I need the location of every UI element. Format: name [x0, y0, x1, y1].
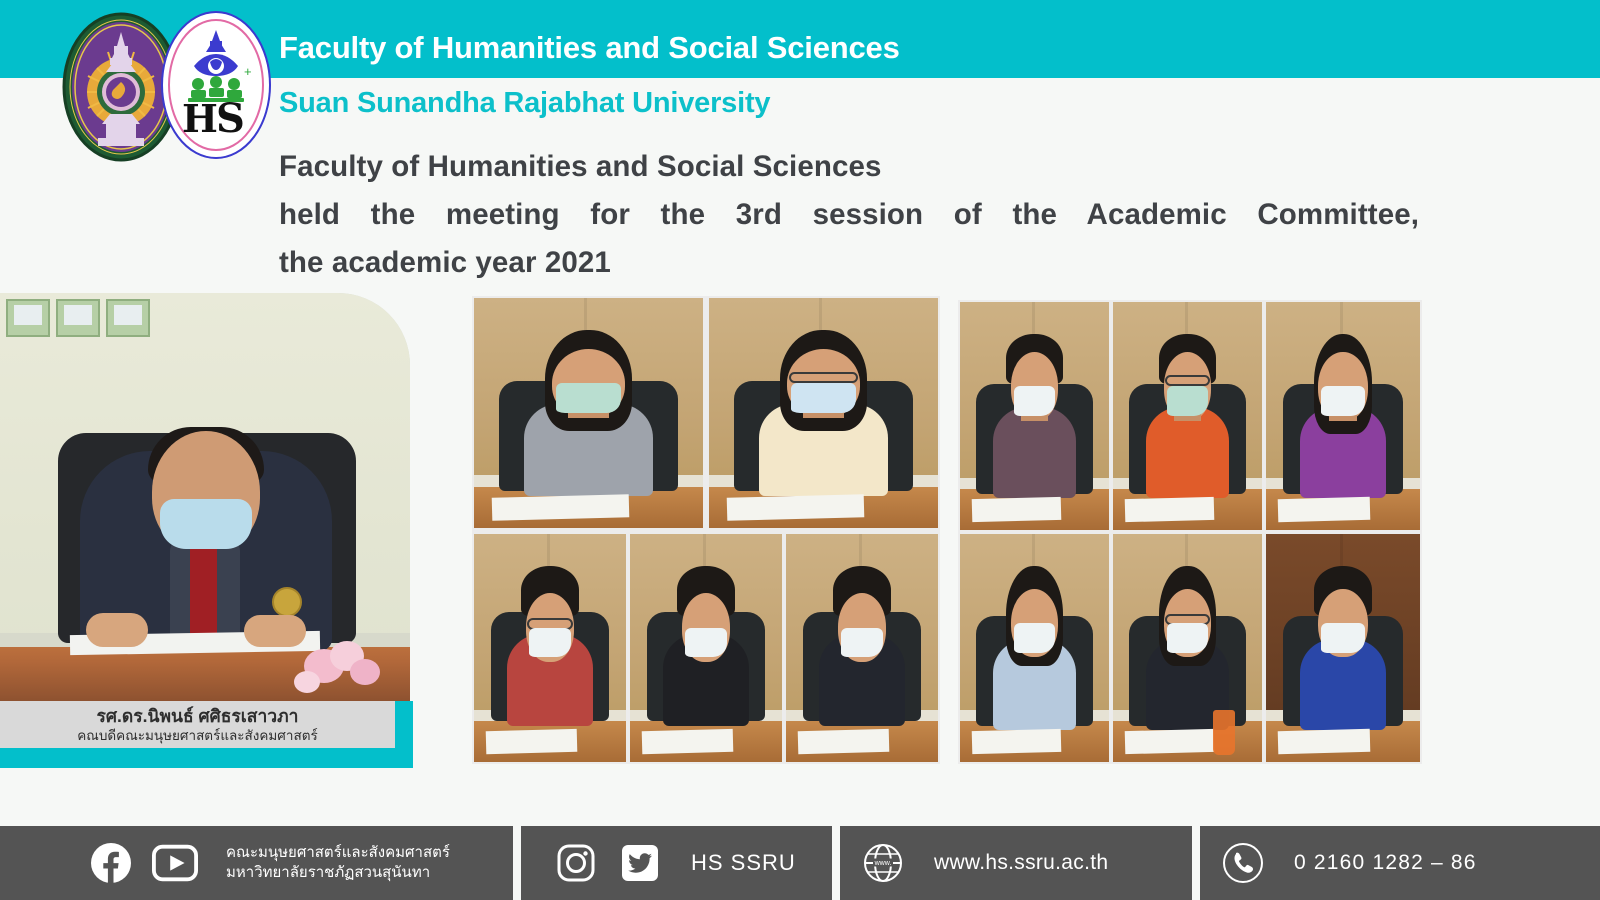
header-subtitle: Suan Sunandha Rajabhat University: [279, 87, 770, 120]
photo-grid-right: [958, 300, 1422, 764]
photo-cell: [960, 302, 1109, 530]
footer-segment-website: www. www.hs.ssru.ac.th: [840, 826, 1192, 900]
logo-group: H S +: [62, 4, 270, 164]
photo-cell: [630, 534, 782, 762]
instagram-icon[interactable]: [553, 840, 599, 886]
svg-text:S: S: [216, 95, 245, 142]
footer-faculty-text: คณะมนุษยศาสตร์และสังคมศาสตร์ มหาวิทยาลัย…: [226, 843, 450, 883]
dean-role: คณบดีคณะมนุษยศาสตร์และสังคมศาสตร์: [77, 727, 317, 744]
footer-segment-social-th: คณะมนุษยศาสตร์และสังคมศาสตร์ มหาวิทยาลัย…: [0, 826, 513, 900]
svg-text:www.: www.: [874, 860, 892, 867]
svg-text:H: H: [182, 96, 218, 141]
photo-cell: [474, 534, 626, 762]
poster-page: H S + Faculty of Humanities and Social S…: [0, 0, 1600, 900]
footer-bar: คณะมนุษยศาสตร์และสังคมศาสตร์ มหาวิทยาลัย…: [0, 826, 1600, 900]
photo-cell: [1266, 302, 1420, 530]
photo-cell: [1113, 534, 1262, 762]
footer-website[interactable]: www.hs.ssru.ac.th: [934, 853, 1108, 873]
footer-faculty-line1: คณะมนุษยศาสตร์และสังคมศาสตร์: [226, 843, 450, 863]
photo-cell: [474, 298, 703, 528]
headline-block: Faculty of Humanities and Social Science…: [279, 143, 1419, 287]
phone-icon[interactable]: [1220, 840, 1266, 886]
photo-cell: [1113, 302, 1262, 530]
headline-line-2: held the meeting for the 3rd session of …: [279, 191, 1419, 239]
photo-cell: [709, 298, 938, 528]
footer-faculty-line2: มหาวิทยาลัยราชภัฏสวนสุนันทา: [226, 863, 450, 883]
photo-cell: [1266, 534, 1420, 762]
photo-grid-left: [472, 296, 940, 764]
footer-handle: HS SSRU: [691, 853, 796, 873]
facebook-icon[interactable]: [88, 840, 134, 886]
feature-photo-block: รศ.ดร.นิพนธ์ ศศิธรเสาวภา คณบดีคณะมนุษยศา…: [0, 293, 410, 768]
dean-caption: รศ.ดร.นิพนธ์ ศศิธรเสาวภา คณบดีคณะมนุษยศา…: [0, 701, 395, 748]
svg-text:+: +: [244, 64, 252, 79]
footer-segment-handles: HS SSRU: [521, 826, 832, 900]
youtube-icon[interactable]: [152, 840, 198, 886]
faculty-hs-seal-logo: H S +: [160, 10, 272, 160]
headline-line-1: Faculty of Humanities and Social Science…: [279, 143, 1419, 191]
photo-cell: [960, 534, 1109, 762]
dean-photo: [0, 293, 410, 701]
caption-teal-accent-bottom: [0, 748, 413, 768]
twitter-icon[interactable]: [617, 840, 663, 886]
globe-icon[interactable]: www.: [860, 840, 906, 886]
headline-line-3: the academic year 2021: [279, 239, 1419, 287]
dean-name: รศ.ดร.นิพนธ์ ศศิธรเสาวภา: [97, 706, 299, 727]
photo-cell: [786, 534, 938, 762]
footer-segment-phone: 0 2160 1282 – 86: [1200, 826, 1600, 900]
header-title: Faculty of Humanities and Social Science…: [279, 30, 900, 66]
caption-teal-accent-right: [395, 701, 413, 748]
footer-telephone[interactable]: 0 2160 1282 – 86: [1294, 853, 1477, 873]
